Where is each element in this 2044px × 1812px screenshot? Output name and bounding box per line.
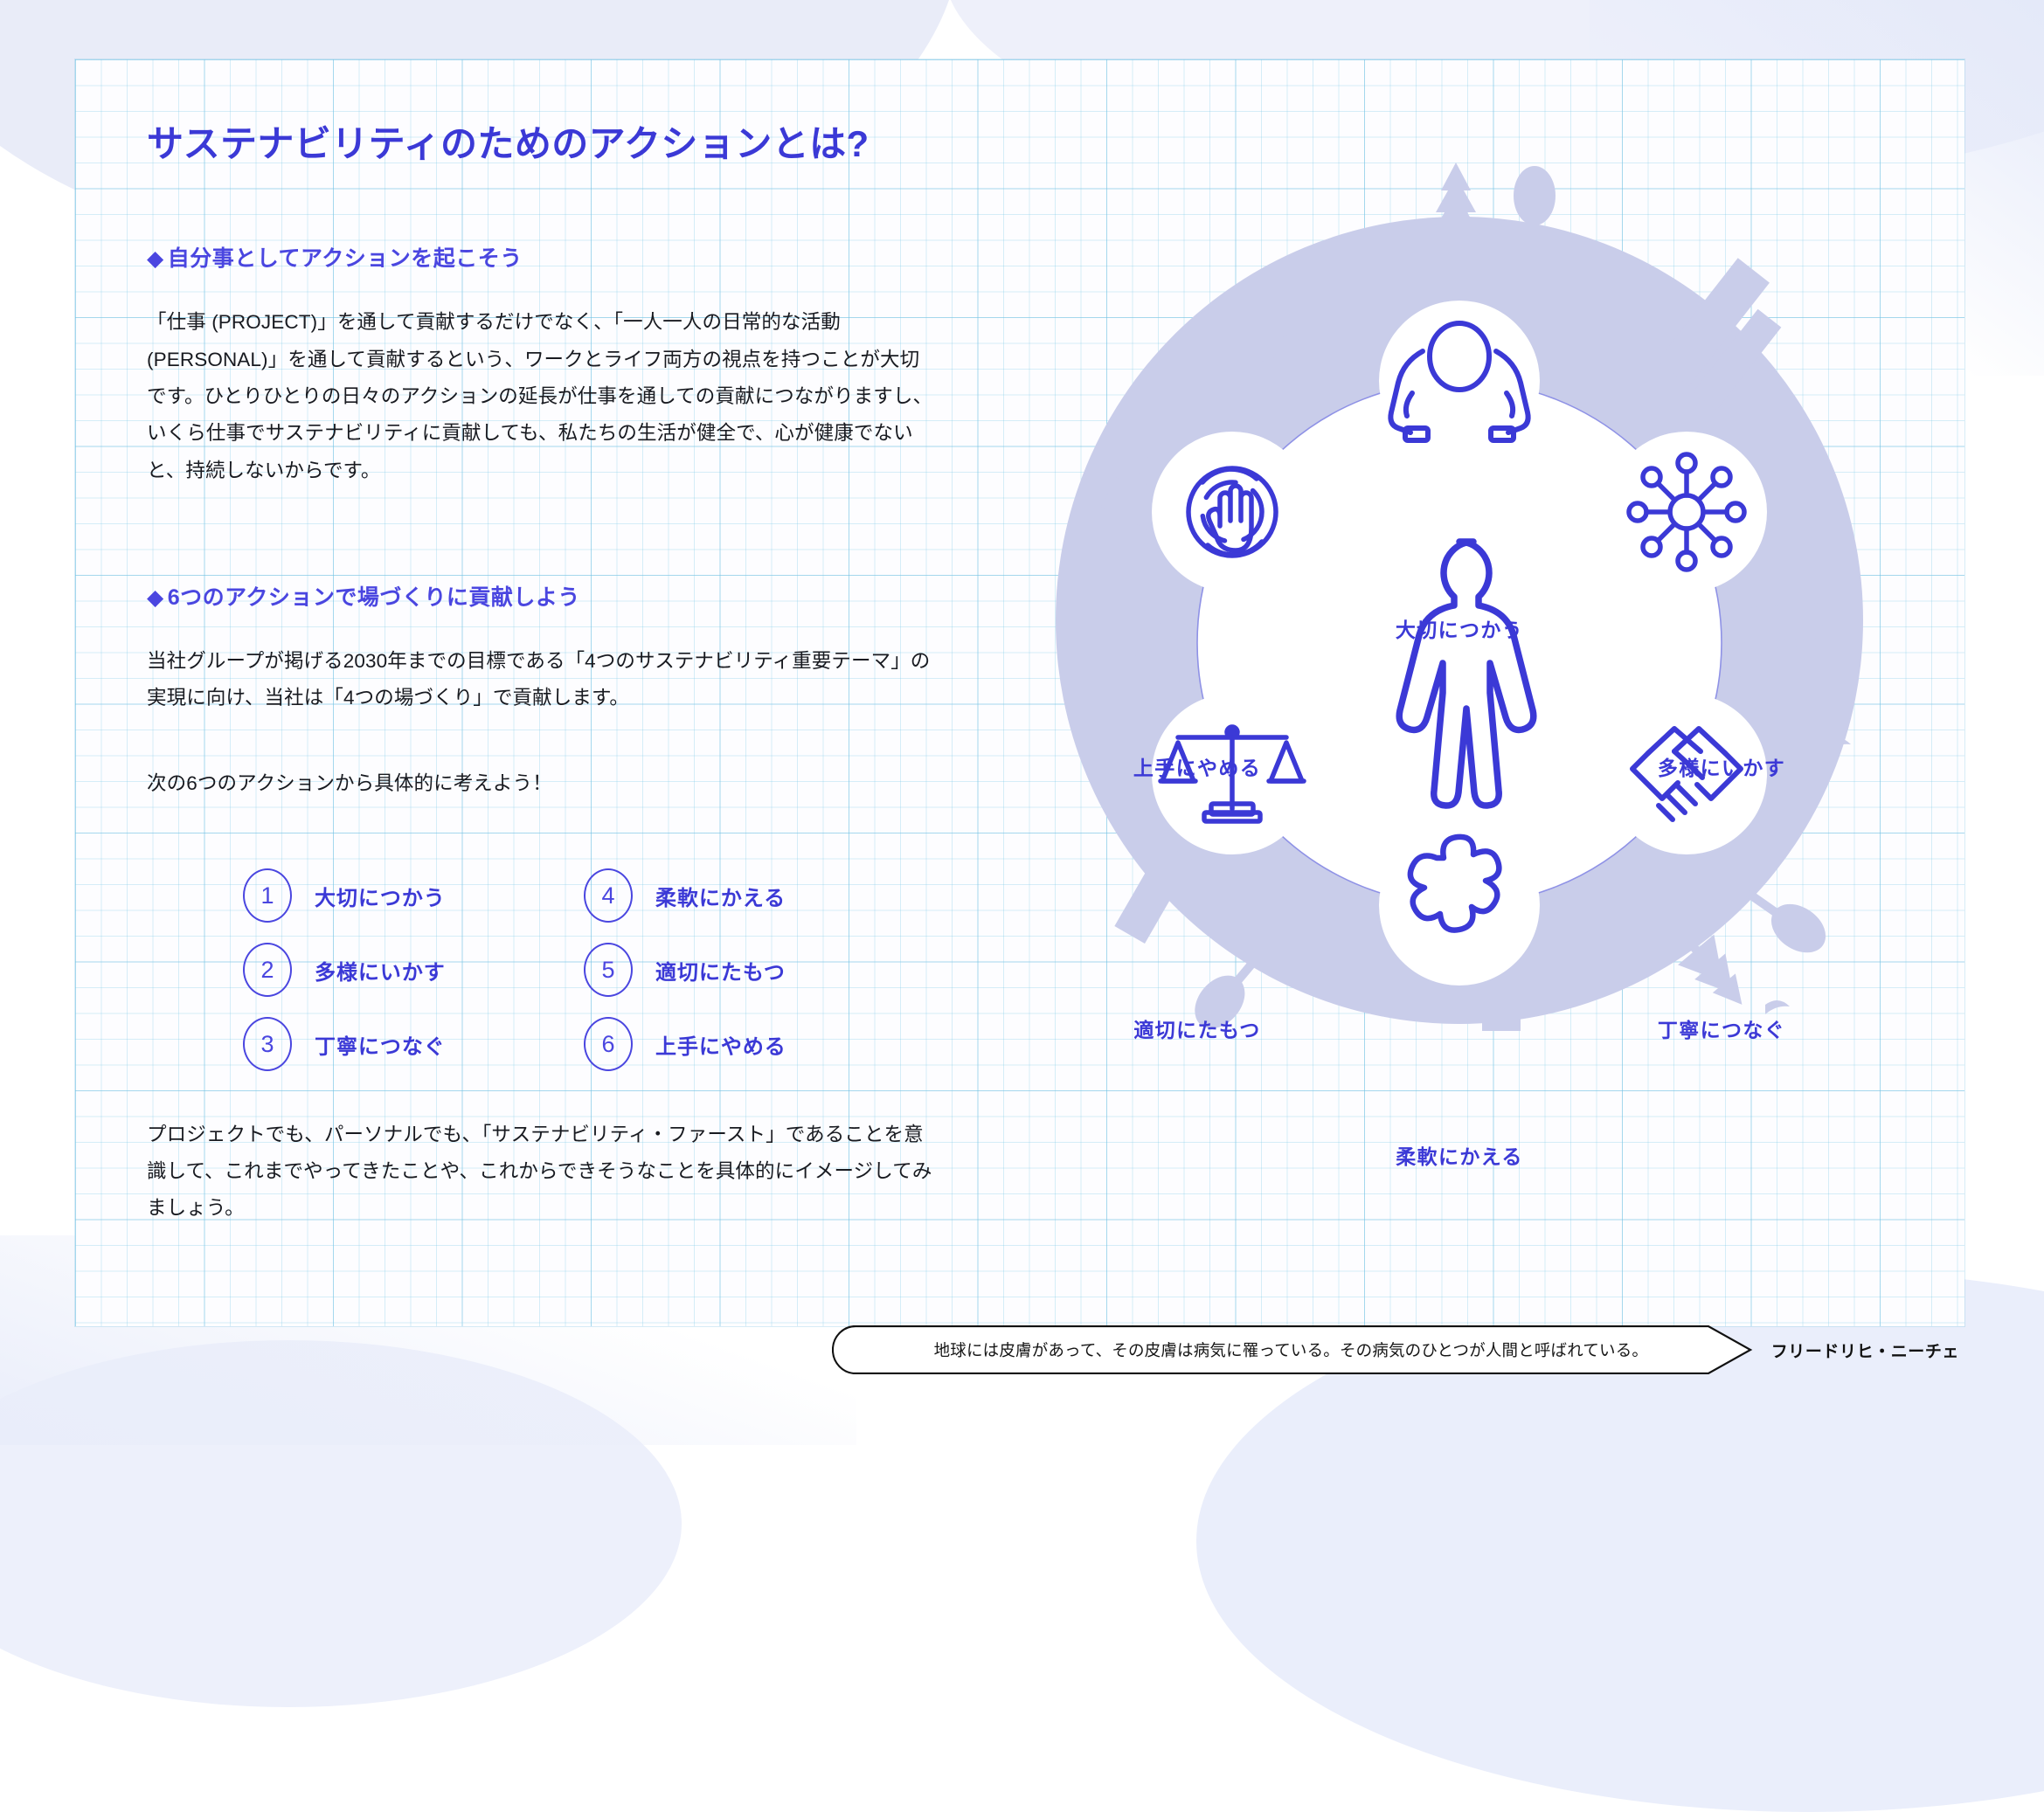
- action-label-4: 柔軟にかえる: [655, 881, 786, 911]
- section-heading-2-text: 6つのアクションで場づくりに貢献しよう: [168, 585, 580, 610]
- section-heading-2: ◆6つのアクションで場づくりに貢献しよう: [147, 580, 933, 612]
- action-label-1: 大切につかう: [315, 881, 446, 911]
- action-item-2[interactable]: 2 多様にいかす: [243, 943, 531, 997]
- action-label-6: 上手にやめる: [655, 1029, 786, 1060]
- quote-text: 地球には皮膚があって、その皮膚は病気に罹っている。その病気のひとつが人間と呼ばれ…: [832, 1325, 1759, 1374]
- action-number-3: 3: [243, 1017, 292, 1071]
- action-number-4: 4: [584, 868, 633, 923]
- page-title: サステナビリティのためのアクションとは?: [147, 122, 933, 166]
- diamond-bullet-icon-2: ◆: [147, 585, 164, 610]
- action-label-2: 多様にいかす: [315, 955, 446, 986]
- action-number-6: 6: [584, 1017, 633, 1071]
- action-item-5[interactable]: 5 適切にたもつ: [584, 943, 872, 997]
- action-number-2: 2: [243, 943, 292, 997]
- action-label-3: 丁寧につなぐ: [315, 1029, 446, 1060]
- actions-lead-in: 次の6つのアクションから具体的に考えよう！: [147, 765, 933, 802]
- action-number-1: 1: [243, 868, 292, 923]
- action-item-3[interactable]: 3 丁寧につなぐ: [243, 1017, 531, 1071]
- closing-paragraph: プロジェクトでも、パーソナルでも、「サステナビリティ・ファースト」であることを意…: [147, 1117, 933, 1228]
- quote-author: フリードリヒ・ニーチェ: [1771, 1338, 1959, 1362]
- action-item-4[interactable]: 4 柔軟にかえる: [584, 868, 872, 923]
- actions-list: 1 大切につかう 4 柔軟にかえる 2 多様にいかす 5 適切にたもつ 3 丁寧…: [243, 859, 933, 1082]
- action-item-1[interactable]: 1 大切につかう: [243, 868, 531, 923]
- section-body-1: 「仕事 (PROJECT)」を通して貢献するだけでなく、「一人一人の日常的な活動…: [147, 304, 933, 488]
- action-number-5: 5: [584, 943, 633, 997]
- six-actions-circle-diagram: [944, 131, 1975, 1162]
- article-column: サステナビリティのためのアクションとは? ◆自分事としてアクションを起こそう 「…: [147, 122, 933, 1228]
- section-heading-1-text: 自分事としてアクションを起こそう: [168, 246, 523, 271]
- section-body-2: 当社グループが掲げる2030年までの目標である「4つのサステナビリティ重要テーマ…: [147, 643, 933, 717]
- diamond-bullet-icon: ◆: [147, 246, 164, 271]
- section-heading-1: ◆自分事としてアクションを起こそう: [147, 241, 933, 273]
- action-label-5: 適切にたもつ: [655, 955, 786, 986]
- action-item-6[interactable]: 6 上手にやめる: [584, 1017, 872, 1071]
- quote-ribbon: 地球には皮膚があって、その皮膚は病気に罹っている。その病気のひとつが人間と呼ばれ…: [832, 1318, 1959, 1382]
- quote-bubble: 地球には皮膚があって、その皮膚は病気に罹っている。その病気のひとつが人間と呼ばれ…: [832, 1325, 1759, 1374]
